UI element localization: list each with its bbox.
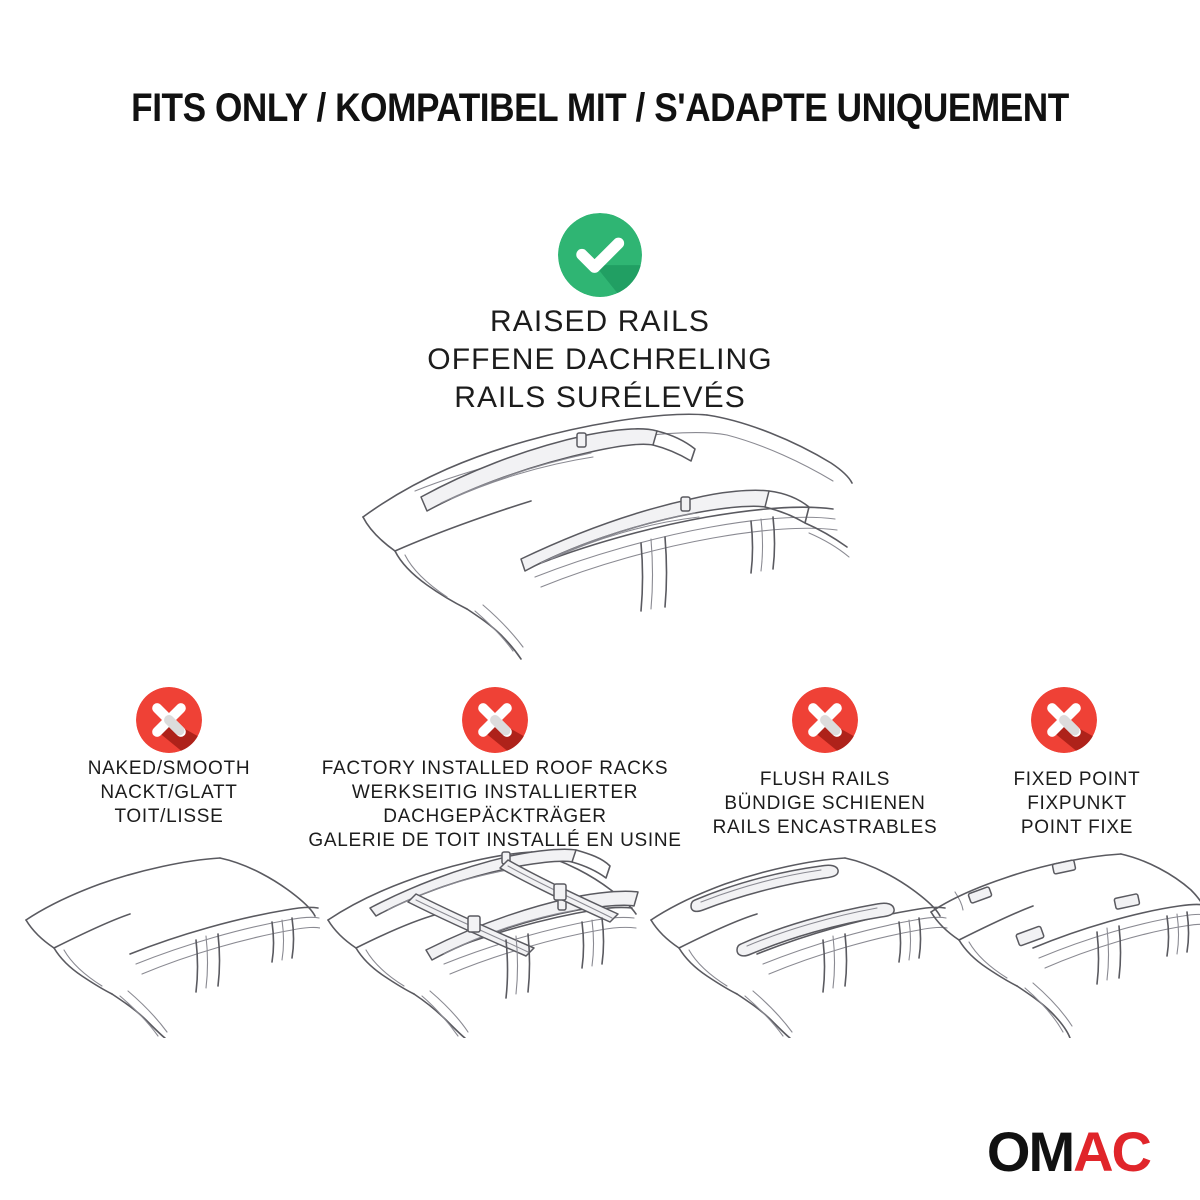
incompatible-4-label-en: FIXED POINT (962, 768, 1192, 792)
car-roof-factory-racks-illustration (320, 828, 660, 1038)
incompatible-caption-naked-smooth: NAKED/SMOOTH NACKT/GLATT TOIT/LISSE (39, 757, 299, 829)
incompatible-3-label-en: FLUSH RAILS (690, 768, 960, 792)
check-circle-icon (558, 213, 642, 297)
compatible-label-en: RAISED RAILS (300, 303, 900, 341)
car-roof-fixed-point-illustration (925, 848, 1200, 1038)
incompatible-4-label-fr: POINT FIXE (962, 816, 1192, 840)
car-roof-raised-rails-illustration (355, 405, 855, 660)
incompatible-4-label-de: FIXPUNKT (962, 792, 1192, 816)
incompatible-caption-flush-rails: FLUSH RAILS BÜNDIGE SCHIENEN RAILS ENCAS… (690, 768, 960, 840)
logo-text-ac: AC (1073, 1120, 1150, 1183)
car-roof-naked-smooth-illustration (20, 848, 320, 1038)
incompatible-2-label-en: FACTORY INSTALLED ROOF RACKS (300, 757, 690, 781)
page-title: FITS ONLY / KOMPATIBEL MIT / S'ADAPTE UN… (72, 86, 1128, 131)
incompatible-1-label-de: NACKT/GLATT (39, 781, 299, 805)
incompatible-3-label-fr: RAILS ENCASTRABLES (690, 816, 960, 840)
x-circle-icon (136, 687, 202, 753)
incompatible-2-label-de1: WERKSEITIG INSTALLIERTER (300, 781, 690, 805)
x-circle-icon (792, 687, 858, 753)
incompatible-1-label-en: NAKED/SMOOTH (39, 757, 299, 781)
incompatible-caption-fixed-point: FIXED POINT FIXPUNKT POINT FIXE (962, 768, 1192, 840)
logo-text-om: OM (987, 1120, 1073, 1183)
compatible-label-de: OFFENE DACHRELING (300, 341, 900, 379)
x-circle-icon (1031, 687, 1097, 753)
car-roof-flush-rails-illustration (645, 848, 965, 1038)
incompatible-2-label-de2: DACHGEPÄCKTRÄGER (300, 805, 690, 829)
incompatible-3-label-de: BÜNDIGE SCHIENEN (690, 792, 960, 816)
incompatible-1-label-fr: TOIT/LISSE (39, 805, 299, 829)
compatible-caption: RAISED RAILS OFFENE DACHRELING RAILS SUR… (300, 303, 900, 417)
x-circle-icon (462, 687, 528, 753)
omac-logo: OMAC (950, 1122, 1150, 1182)
